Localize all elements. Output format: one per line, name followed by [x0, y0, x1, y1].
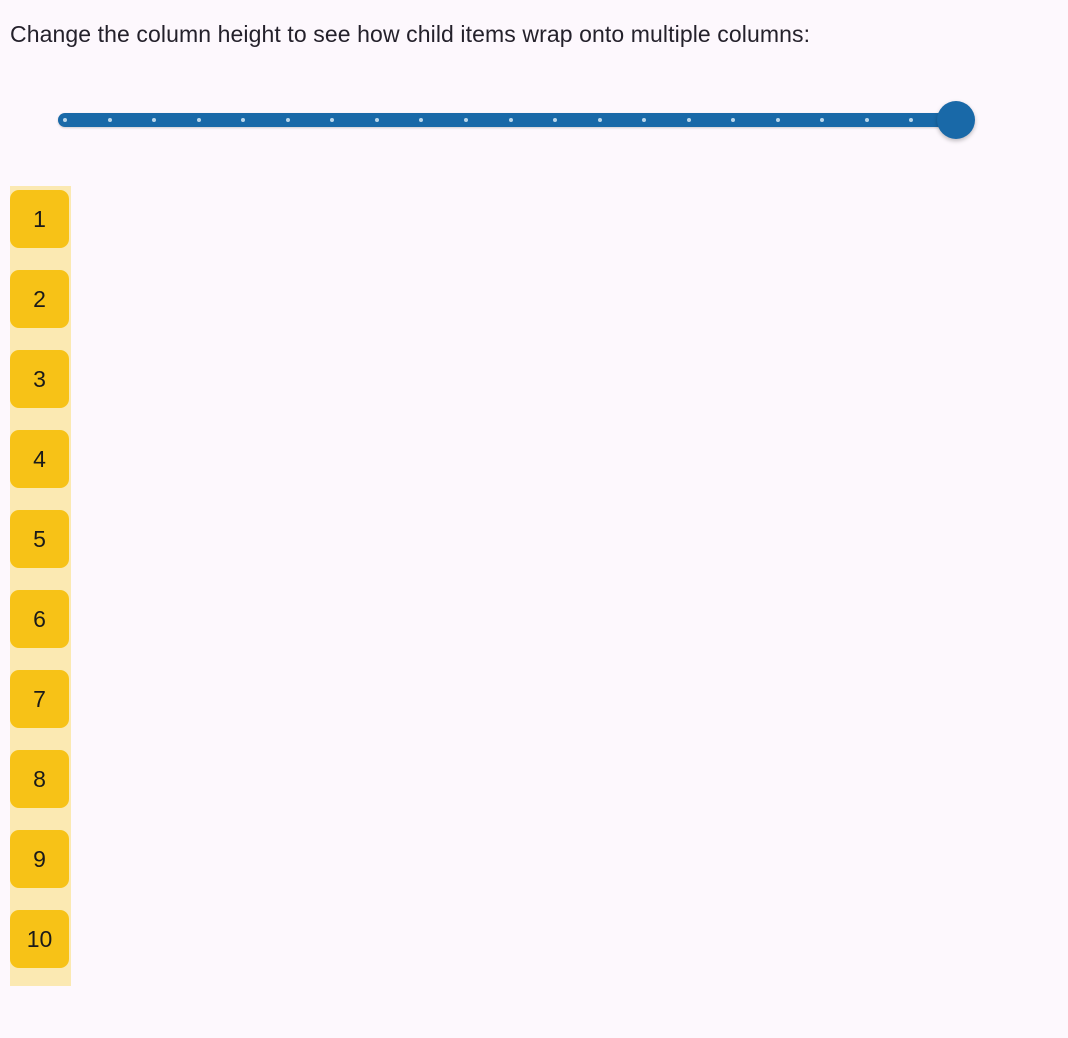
slider-tick: [776, 118, 780, 122]
slider-tick: [241, 118, 245, 122]
column-item-label: 8: [33, 766, 46, 793]
column-height-slider[interactable]: [58, 101, 982, 141]
slider-tick: [108, 118, 112, 122]
slider-tick: [419, 118, 423, 122]
slider-tick: [687, 118, 691, 122]
column-item: 9: [10, 830, 69, 888]
column-item: 6: [10, 590, 69, 648]
column-item-label: 3: [33, 366, 46, 393]
column-item: 3: [10, 350, 69, 408]
slider-tick: [197, 118, 201, 122]
column-item: 1: [10, 190, 69, 248]
slider-tick: [330, 118, 334, 122]
slider-tick-marks: [58, 113, 963, 127]
slider-tick: [375, 118, 379, 122]
slider-tick: [820, 118, 824, 122]
slider-tick: [152, 118, 156, 122]
slider-thumb[interactable]: [937, 101, 975, 139]
column-item: 10: [10, 910, 69, 968]
column-item: 7: [10, 670, 69, 728]
slider-tick: [642, 118, 646, 122]
slider-tick: [63, 118, 67, 122]
column-item: 2: [10, 270, 69, 328]
slider-tick: [598, 118, 602, 122]
column-item: 4: [10, 430, 69, 488]
column-item-label: 1: [33, 206, 46, 233]
slider-tick: [553, 118, 557, 122]
slider-tick: [464, 118, 468, 122]
slider-tick: [731, 118, 735, 122]
page-title: Change the column height to see how chil…: [10, 18, 810, 50]
column-item-label: 6: [33, 606, 46, 633]
column-item-label: 9: [33, 846, 46, 873]
slider-tick: [865, 118, 869, 122]
column-item: 8: [10, 750, 69, 808]
slider-tick: [509, 118, 513, 122]
column-item-label: 2: [33, 286, 46, 313]
slider-tick: [909, 118, 913, 122]
column-item-label: 4: [33, 446, 46, 473]
wrapping-column-container: 12345678910: [10, 186, 71, 986]
slider-tick: [286, 118, 290, 122]
column-item-label: 7: [33, 686, 46, 713]
column-item-label: 10: [27, 926, 53, 953]
column-item: 5: [10, 510, 69, 568]
column-item-label: 5: [33, 526, 46, 553]
